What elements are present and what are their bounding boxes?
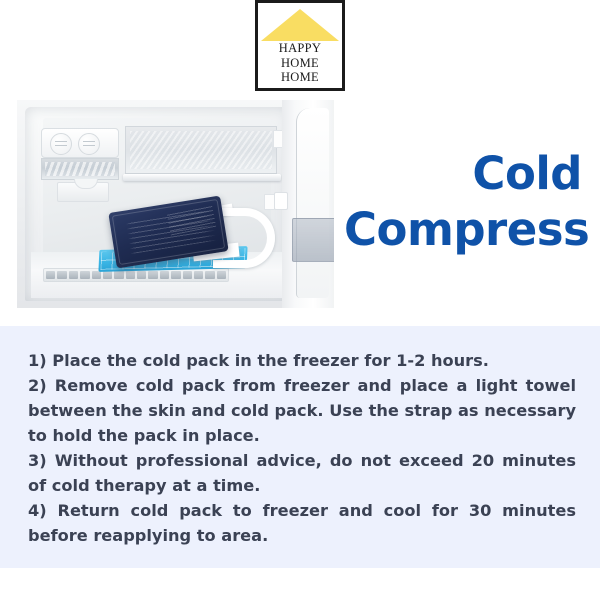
instruction-step-3: 3) Without professional advice, do not e… <box>28 448 576 498</box>
freezer-photo <box>17 100 334 308</box>
brand-logo: HAPPY HOME HOME <box>255 0 345 91</box>
instruction-step-2: 2) Remove cold pack from freezer and pla… <box>28 373 576 448</box>
instruction-step-1: 1) Place the cold pack in the freezer fo… <box>28 348 576 373</box>
instruction-step-4: 4) Return cold pack to freezer and cool … <box>28 498 576 548</box>
brand-logo-text: HAPPY HOME HOME <box>258 41 342 85</box>
ice-maker-module <box>41 128 119 158</box>
freezer-door-bin <box>292 218 334 262</box>
ice-maker-tray <box>57 182 109 202</box>
ice-maker-dial-right-icon <box>78 133 100 155</box>
house-roof-triangle-icon <box>261 9 339 41</box>
ice-maker-dial-left-icon <box>50 133 72 155</box>
brand-line-3: HOME <box>258 70 342 85</box>
brand-line-2: HOME <box>258 56 342 71</box>
freezer-door-panel <box>296 108 329 298</box>
ice-maker-bin <box>41 158 119 180</box>
instructions-list: 1) Place the cold pack in the freezer fo… <box>28 348 576 548</box>
page-title-line-1: Cold <box>472 147 582 200</box>
page-title: Cold Compress <box>344 146 582 258</box>
instructions-panel: 1) Place the cold pack in the freezer fo… <box>0 326 600 568</box>
freezer-door <box>282 100 334 308</box>
freezer-frosted-panel <box>125 126 277 174</box>
brand-line-1: HAPPY <box>258 41 342 56</box>
freezer-door-clip <box>274 192 288 210</box>
page-title-line-2: Compress <box>344 202 582 258</box>
freezer-shelf-bar <box>123 174 281 181</box>
